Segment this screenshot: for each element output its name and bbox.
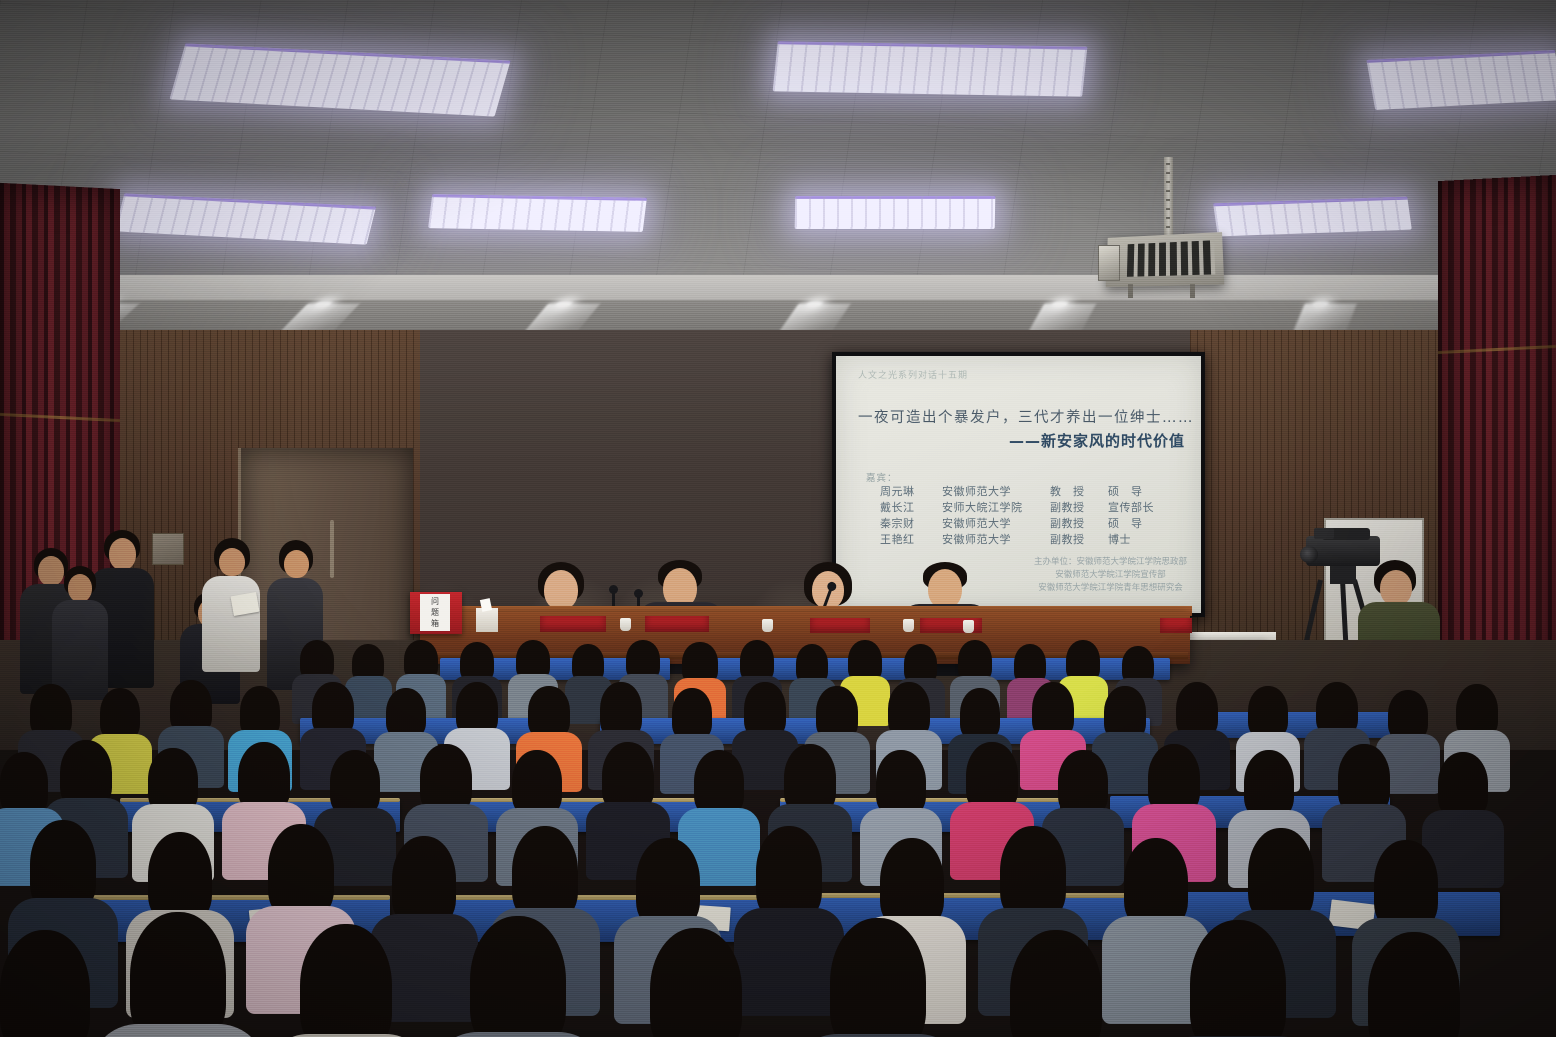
audience-seating xyxy=(0,600,1556,1037)
guest-role: 博士 xyxy=(1108,532,1172,548)
slide-guest-label: 嘉宾： xyxy=(866,470,898,484)
guest-row: 戴长江 安师大皖江学院 副教授 宣传部长 xyxy=(880,500,1172,516)
slide-kicker: 人文之光系列对话十五期 xyxy=(858,368,968,381)
projection-screen-frame: 人文之光系列对话十五期 一夜可造出个暴发户，三代才养出一位绅士…… ——新安家风… xyxy=(832,352,1205,617)
projection-screen: 人文之光系列对话十五期 一夜可造出个暴发户，三代才养出一位绅士…… ——新安家风… xyxy=(836,356,1201,613)
slide-guest-list: 周元琳 安徽师范大学 教 授 硕 导 戴长江 安师大皖江学院 副教授 宣传部长 … xyxy=(880,484,1172,548)
curtain-gold-trim xyxy=(0,413,120,422)
camera-lens xyxy=(1300,546,1318,563)
guest-name: 戴长江 xyxy=(880,500,942,516)
lecture-hall-photo: 人文之光系列对话十五期 一夜可造出个暴发户，三代才养出一位绅士…… ——新安家风… xyxy=(0,0,1556,1037)
guest-role: 宣传部长 xyxy=(1108,500,1172,516)
guest-name: 秦宗财 xyxy=(880,516,942,532)
ceiling-light-fixture xyxy=(773,41,1088,96)
slide-organizers: 主办单位：安徽师范大学皖江学院思政部 安徽师范大学皖江学院宣传部 安徽师范大学皖… xyxy=(1034,556,1187,595)
guest-title: 副教授 xyxy=(1050,516,1108,532)
guest-role: 硕 导 xyxy=(1108,516,1172,532)
guest-row: 周元琳 安徽师范大学 教 授 硕 导 xyxy=(880,484,1172,500)
curtain-gold-trim xyxy=(1438,345,1556,354)
projector-foot xyxy=(1128,284,1133,298)
ceiling-light-fixture xyxy=(1213,197,1412,237)
guest-name: 周元琳 xyxy=(880,484,942,500)
projector-mount-rod xyxy=(1164,157,1173,242)
projector-foot xyxy=(1190,284,1195,298)
guest-affiliation: 安徽师范大学 xyxy=(942,516,1050,532)
ceiling-light-fixture xyxy=(795,196,996,229)
guest-title: 副教授 xyxy=(1050,532,1108,548)
guest-name: 王艳红 xyxy=(880,532,942,548)
organizer-line: 安徽师范大学皖江学院宣传部 xyxy=(1034,569,1187,582)
guest-row: 王艳红 安徽师范大学 副教授 博士 xyxy=(880,532,1172,548)
desk-edge xyxy=(450,798,730,802)
desk-edge xyxy=(60,895,390,900)
ceiling-light-fixture xyxy=(1366,50,1556,110)
ceiling-light-fixture xyxy=(428,194,647,232)
tripod-head xyxy=(1330,566,1356,584)
guest-affiliation: 安师大皖江学院 xyxy=(942,500,1050,516)
organizer-line: 主办单位：安徽师范大学皖江学院思政部 xyxy=(1034,556,1187,569)
guest-role: 硕 导 xyxy=(1108,484,1172,500)
wall-plate xyxy=(152,533,184,565)
desk-edge xyxy=(430,895,760,900)
desk-edge xyxy=(800,893,1130,898)
slide-title: 一夜可造出个暴发户，三代才养出一位绅士…… xyxy=(858,406,1191,427)
door-handle[interactable] xyxy=(330,520,334,578)
guest-affiliation: 安徽师范大学 xyxy=(942,484,1050,500)
guest-title: 副教授 xyxy=(1050,500,1108,516)
guest-affiliation: 安徽师范大学 xyxy=(942,532,1050,548)
camera-viewfinder xyxy=(1314,528,1334,539)
guest-title: 教 授 xyxy=(1050,484,1108,500)
organizer-line: 安徽师范大学皖江学院青年思想研究会 xyxy=(1034,582,1187,595)
projector-lens xyxy=(1098,245,1120,281)
slide-subtitle: ——新安家风的时代价值 xyxy=(1009,430,1185,451)
projector-cage xyxy=(1106,232,1224,287)
guest-row: 秦宗财 安徽师范大学 副教授 硕 导 xyxy=(880,516,1172,532)
